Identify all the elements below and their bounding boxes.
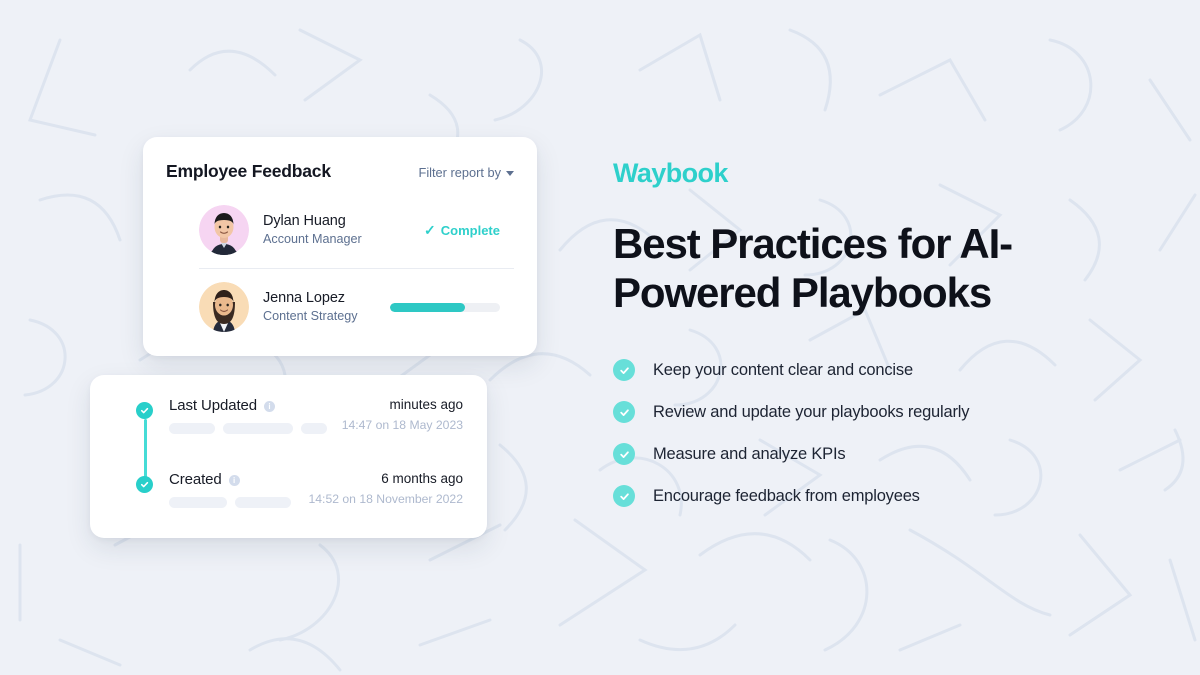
relative-timestamp: minutes ago bbox=[389, 397, 463, 412]
bullet-list: Keep your content clear and concise Revi… bbox=[613, 359, 1133, 507]
person-role: Account Manager bbox=[263, 231, 410, 248]
skeleton-pill bbox=[169, 497, 227, 508]
check-circle-icon bbox=[136, 476, 153, 493]
timeline-entry-right: minutes ago 14:47 on 18 May 2023 bbox=[342, 397, 463, 432]
page-root: Employee Feedback Filter report by bbox=[0, 0, 1200, 675]
timeline: Last Updated i minutes ago 14:47 on 18 M… bbox=[114, 397, 463, 545]
list-item: Last Updated i minutes ago 14:47 on 18 M… bbox=[114, 397, 463, 471]
skeleton-pill bbox=[169, 423, 215, 434]
person-name: Jenna Lopez bbox=[263, 289, 376, 309]
table-row[interactable]: Jenna Lopez Content Strategy bbox=[166, 279, 514, 335]
card-header: Employee Feedback Filter report by bbox=[166, 161, 514, 182]
skeleton-pill bbox=[235, 497, 291, 508]
list-item: Encourage feedback from employees bbox=[613, 485, 1133, 507]
relative-timestamp: 6 months ago bbox=[381, 471, 463, 486]
list-item: Keep your content clear and concise bbox=[613, 359, 1133, 381]
table-row[interactable]: Dylan Huang Account Manager ✓ Complete bbox=[166, 202, 514, 258]
info-icon[interactable]: i bbox=[229, 475, 240, 486]
timeline-entry-body: Last Updated i minutes ago 14:47 on 18 M… bbox=[169, 397, 463, 434]
timeline-label-line: Created i bbox=[169, 471, 291, 488]
person-info: Dylan Huang Account Manager bbox=[263, 212, 410, 249]
timeline-entry-left: Last Updated i bbox=[169, 397, 327, 434]
check-circle-icon bbox=[613, 485, 635, 507]
person-info: Jenna Lopez Content Strategy bbox=[263, 289, 376, 326]
list-item: Review and update your playbooks regular… bbox=[613, 401, 1133, 423]
employee-feedback-card: Employee Feedback Filter report by bbox=[143, 137, 537, 356]
list-item: Created i 6 months ago 14:52 on 18 Novem… bbox=[114, 471, 463, 545]
bullet-label: Review and update your playbooks regular… bbox=[653, 403, 969, 422]
skeleton-placeholder-row bbox=[169, 423, 327, 434]
skeleton-placeholder-row bbox=[169, 497, 291, 508]
bullet-label: Measure and analyze KPIs bbox=[653, 445, 845, 464]
person-role: Content Strategy bbox=[263, 308, 376, 325]
timeline-entry-body: Created i 6 months ago 14:52 on 18 Novem… bbox=[169, 471, 463, 508]
chevron-down-icon bbox=[506, 171, 514, 176]
status-badge: ✓ Complete bbox=[424, 223, 500, 238]
filter-report-by-dropdown[interactable]: Filter report by bbox=[419, 165, 515, 180]
skeleton-pill bbox=[223, 423, 293, 434]
skeleton-pill bbox=[301, 423, 327, 434]
check-circle-icon bbox=[136, 402, 153, 419]
timeline-label-line: Last Updated i bbox=[169, 397, 327, 414]
filter-report-by-label: Filter report by bbox=[419, 165, 502, 180]
right-panel: Waybook Best Practices for AI-Powered Pl… bbox=[613, 160, 1133, 507]
row-divider bbox=[199, 268, 514, 269]
check-circle-icon bbox=[613, 359, 635, 381]
bullet-label: Keep your content clear and concise bbox=[653, 361, 913, 380]
timeline-entry-right: 6 months ago 14:52 on 18 November 2022 bbox=[309, 471, 464, 506]
avatar-jenna-lopez bbox=[199, 282, 249, 332]
timeline-label: Last Updated bbox=[169, 397, 257, 414]
check-circle-icon bbox=[613, 401, 635, 423]
timeline-entry-left: Created i bbox=[169, 471, 291, 508]
waybook-logo: Waybook bbox=[613, 160, 1133, 187]
status-label: Complete bbox=[441, 223, 500, 238]
person-name: Dylan Huang bbox=[263, 212, 410, 232]
absolute-timestamp: 14:47 on 18 May 2023 bbox=[342, 418, 463, 432]
absolute-timestamp: 14:52 on 18 November 2022 bbox=[309, 492, 464, 506]
timeline-label: Created bbox=[169, 471, 222, 488]
bullet-label: Encourage feedback from employees bbox=[653, 487, 920, 506]
list-item: Measure and analyze KPIs bbox=[613, 443, 1133, 465]
info-icon[interactable]: i bbox=[264, 401, 275, 412]
headline: Best Practices for AI-Powered Playbooks bbox=[613, 219, 1083, 317]
page-title: Employee Feedback bbox=[166, 161, 331, 182]
avatar-dylan-huang bbox=[199, 205, 249, 255]
progress-bar-fill bbox=[390, 303, 465, 312]
check-icon: ✓ bbox=[424, 223, 436, 237]
timeline-card: Last Updated i minutes ago 14:47 on 18 M… bbox=[90, 375, 487, 538]
progress-bar bbox=[390, 303, 500, 312]
check-circle-icon bbox=[613, 443, 635, 465]
